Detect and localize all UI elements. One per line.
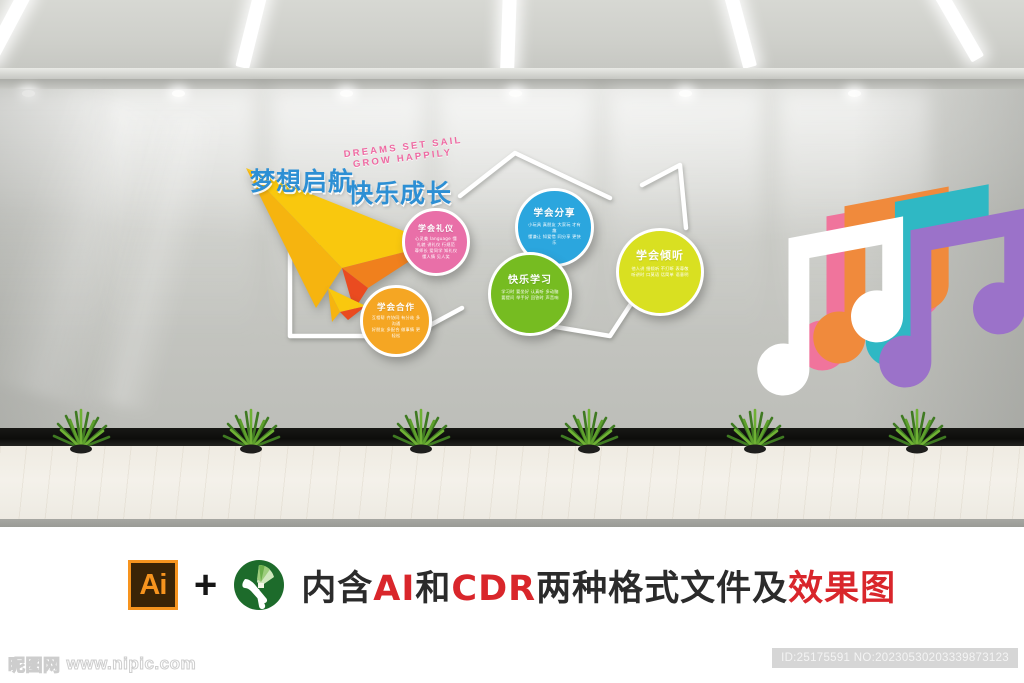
watermark-site-name: 昵图网 (8, 651, 61, 676)
floor-edge-strip (0, 519, 1024, 527)
banner-text-ai: AI (373, 569, 415, 609)
room-scene: 梦想启航 快乐成长 DREAMS SET SAIL GROW HAPPILY 学… (0, 0, 1024, 527)
screenshot-root: 梦想启航 快乐成长 DREAMS SET SAIL GROW HAPPILY 学… (0, 0, 1024, 683)
circle-learning[interactable]: 快乐学习 学习时 要坐好 认真听 多动脑 要提问 举手好 回答时 声音响 (488, 252, 572, 336)
plant-5 (722, 404, 788, 454)
ai-logo-icon: Ai (128, 560, 178, 610)
circle-etiquette[interactable]: 学会礼仪 心灵美 language 懂礼貌 讲礼仪 行规范 尊师长 爱同学 知礼… (402, 208, 470, 276)
plant-6 (884, 404, 950, 454)
banner-text-and: 和 (415, 569, 451, 609)
site-watermark: 昵图网 www.nipic.com (8, 651, 196, 676)
cdr-logo-icon (233, 559, 285, 611)
floor (0, 446, 1024, 521)
plant-2 (218, 404, 284, 454)
banner-text-highlight: 效果图 (788, 569, 896, 609)
plus-icon: + (194, 565, 217, 605)
circle-cooperation[interactable]: 学会合作 互相帮 齐协同 有分歧 多沟通 好朋友 多配合 做事情 更轻松 (360, 285, 432, 357)
asset-id-badge: ID:25175591 NO:20230530203339873123 (772, 648, 1018, 668)
plant-1 (48, 404, 114, 454)
banner-text: 内含AI和CDR两种格式文件及效果图 (301, 560, 896, 611)
title-dreams-set-sail: 梦想启航 (250, 162, 354, 198)
ceiling-light-3 (500, 0, 517, 70)
title-grow-happily: 快乐成长 (348, 174, 452, 210)
plant-4 (556, 404, 622, 454)
watermark-url: www.nipic.com (67, 654, 197, 674)
footer: 昵图网 www.nipic.com ID:25175591 NO:2023053… (0, 643, 1024, 683)
plant-3 (388, 404, 454, 454)
culture-wall-artwork: 梦想启航 快乐成长 DREAMS SET SAIL GROW HAPPILY 学… (250, 140, 740, 390)
banner-text-cdr: CDR (451, 569, 536, 609)
format-banner: Ai + 内含AI和CDR两种格式文件及效果图 (0, 527, 1024, 643)
wall-baseboard (0, 428, 1024, 446)
banner-text-part2: 两种格式文件及 (536, 569, 788, 609)
wall-shadow-left (0, 89, 120, 431)
banner-text-part1: 内含 (301, 569, 373, 609)
